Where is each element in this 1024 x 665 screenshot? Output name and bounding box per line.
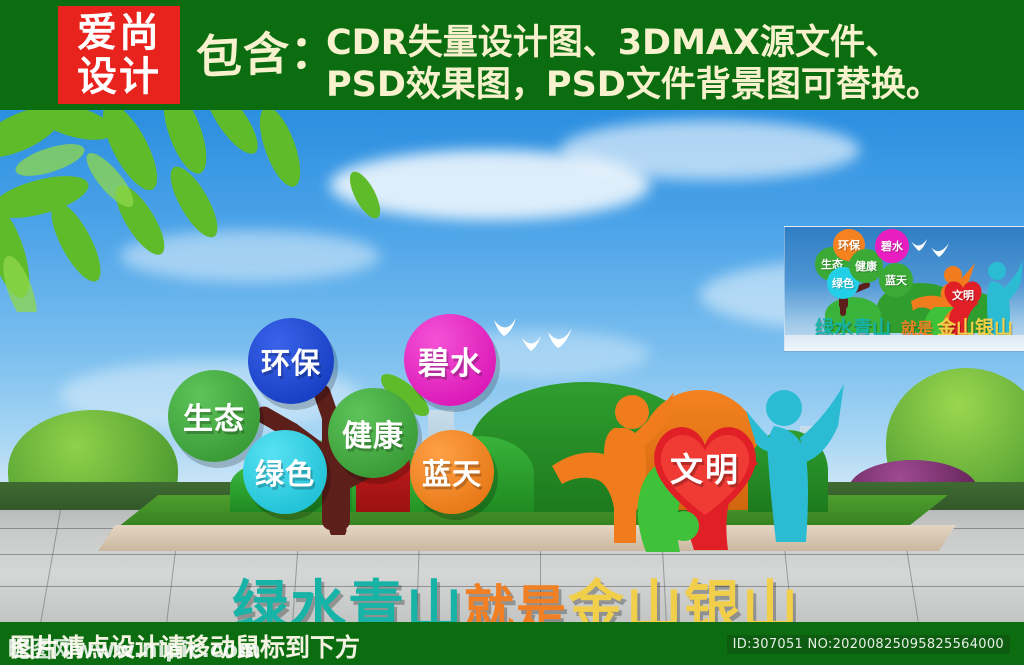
brand-logo-line2: 设计 xyxy=(77,57,161,97)
brand-logo: 爱尚 设计 xyxy=(58,6,180,104)
circle-huanbao[interactable]: 环保 xyxy=(248,318,334,404)
circle-lvse[interactable]: 绿色 xyxy=(243,430,327,514)
circle-jiankang[interactable]: 健康 xyxy=(328,388,418,478)
slogan-part-1: 绿水青山 xyxy=(232,562,464,625)
footer-watermark: 昵图网www.nipic.com xyxy=(8,632,261,664)
circle-bishui-label: 碧水 xyxy=(418,338,482,383)
inset-circle-wenming: 文明 xyxy=(945,283,981,307)
include-line-2: PSD效果图，PSD文件背景图可替换。 xyxy=(326,56,941,107)
circle-lantian-label: 蓝天 xyxy=(422,451,482,493)
circle-lvse-label: 绿色 xyxy=(255,451,315,493)
footer-id-text: ID:307051 NO:20200825095825564000 xyxy=(727,635,1010,654)
circle-lantian[interactable]: 蓝天 xyxy=(410,430,494,514)
sculpture-group: 生态 环保 绿色 健康 碧水 蓝天 xyxy=(0,110,1024,625)
slogan-part-2: 就是 xyxy=(464,569,568,625)
inset-preview[interactable]: 文明 生态 环保 绿色 健康 碧水 蓝天 绿水青山 就是 xyxy=(784,226,1024,352)
main-slogan: 绿水青山就是金山银山 xyxy=(232,562,800,625)
slogan-part-3: 金山银山 xyxy=(568,562,800,625)
circle-shengtai-label: 生态 xyxy=(183,394,245,438)
inset-circle-bishui: 碧水 xyxy=(875,229,909,263)
artwork-photo: 生态 环保 绿色 健康 碧水 蓝天 xyxy=(0,110,1024,625)
brand-logo-line1: 爱尚 xyxy=(77,13,161,53)
inset-birds-icon xyxy=(909,235,955,263)
header-banner: 爱尚 设计 包含： CDR失量设计图、3DMAX源文件、 PSD效果图，PSD文… xyxy=(0,0,1024,110)
heart-badge[interactable]: 文明 xyxy=(645,415,765,527)
inset-circle-lvse-label: 绿色 xyxy=(832,275,854,291)
circle-jiankang-label: 健康 xyxy=(342,411,404,455)
inset-circle-lantian: 蓝天 xyxy=(879,263,913,297)
inset-ground xyxy=(785,335,1024,351)
include-label: 包含： xyxy=(196,14,337,87)
heart-label: 文明 xyxy=(645,443,765,491)
inset-circle-bishui-label: 碧水 xyxy=(881,238,903,254)
poster-canvas: 爱尚 设计 包含： CDR失量设计图、3DMAX源文件、 PSD效果图，PSD文… xyxy=(0,0,1024,665)
circle-bishui[interactable]: 碧水 xyxy=(404,314,496,406)
circle-huanbao-label: 环保 xyxy=(261,340,321,382)
inset-circle-jiankang-label: 健康 xyxy=(855,258,877,274)
footer-bar: 图片请点设计请移动鼠标到下方 昵图网www.nipic.com ID:30705… xyxy=(0,625,1024,665)
inset-circle-lantian-label: 蓝天 xyxy=(885,272,907,288)
inset-circle-wenming-label: 文明 xyxy=(952,287,974,303)
circle-shengtai[interactable]: 生态 xyxy=(168,370,260,462)
